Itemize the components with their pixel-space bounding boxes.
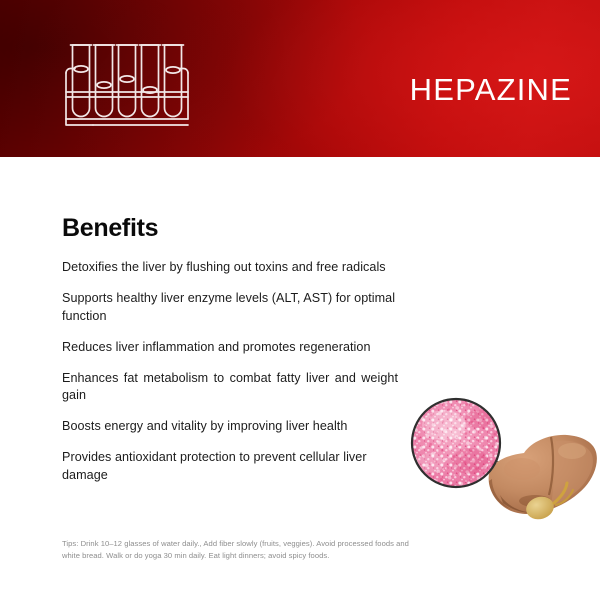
liver-illustration <box>489 435 597 523</box>
benefit-item: Provides antioxidant protection to preve… <box>62 449 398 485</box>
page-content: Benefits Detoxifies the liver by flushin… <box>0 157 600 600</box>
poster-page: HEPAZINE Benefits Detoxifies the liver b… <box>0 0 600 600</box>
test-tube-rack-icon <box>62 40 200 136</box>
section-title-benefits: Benefits <box>62 216 158 241</box>
brand-title: HEPAZINE <box>410 74 572 105</box>
benefit-item: Reduces liver inflammation and promotes … <box>62 339 398 357</box>
benefit-item: Supports healthy liver enzyme levels (AL… <box>62 290 398 326</box>
benefit-item: Boosts energy and vitality by improving … <box>62 418 398 436</box>
benefit-item: Detoxifies the liver by flushing out tox… <box>62 259 398 277</box>
benefit-item: Enhances fat metabolism to combat fatty … <box>62 370 398 406</box>
tips-text: Tips: Drink 10–12 glasses of water daily… <box>62 538 410 562</box>
page-header: HEPAZINE <box>0 0 600 157</box>
histology-micrograph-circle <box>412 399 500 487</box>
liver-with-histology-inset <box>404 391 600 536</box>
benefits-list: Detoxifies the liver by flushing out tox… <box>62 259 398 485</box>
